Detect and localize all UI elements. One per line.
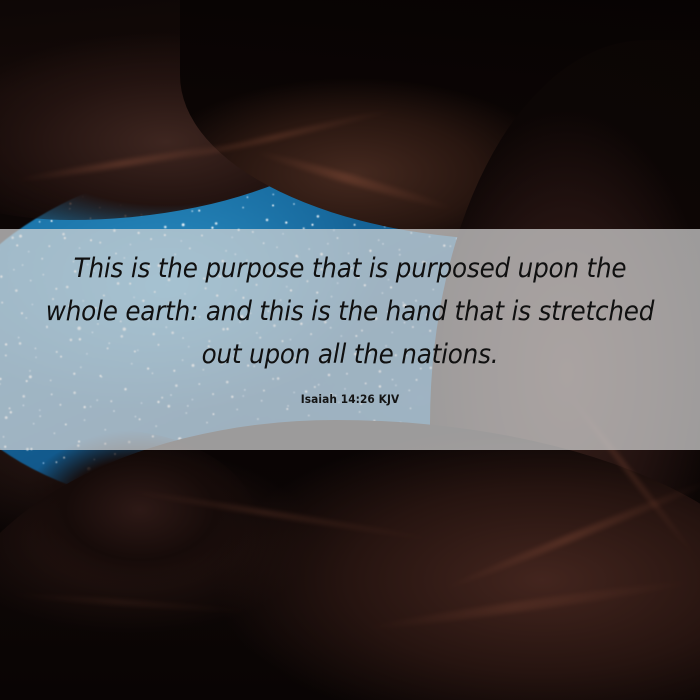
verse-text: This is the purpose that is purposed upo…: [25, 229, 676, 376]
verse-reference: Isaiah 14:26 KJV: [28, 376, 672, 406]
verse-image-canvas: This is the purpose that is purposed upo…: [0, 0, 700, 700]
verse-overlay-band: This is the purpose that is purposed upo…: [0, 229, 700, 450]
